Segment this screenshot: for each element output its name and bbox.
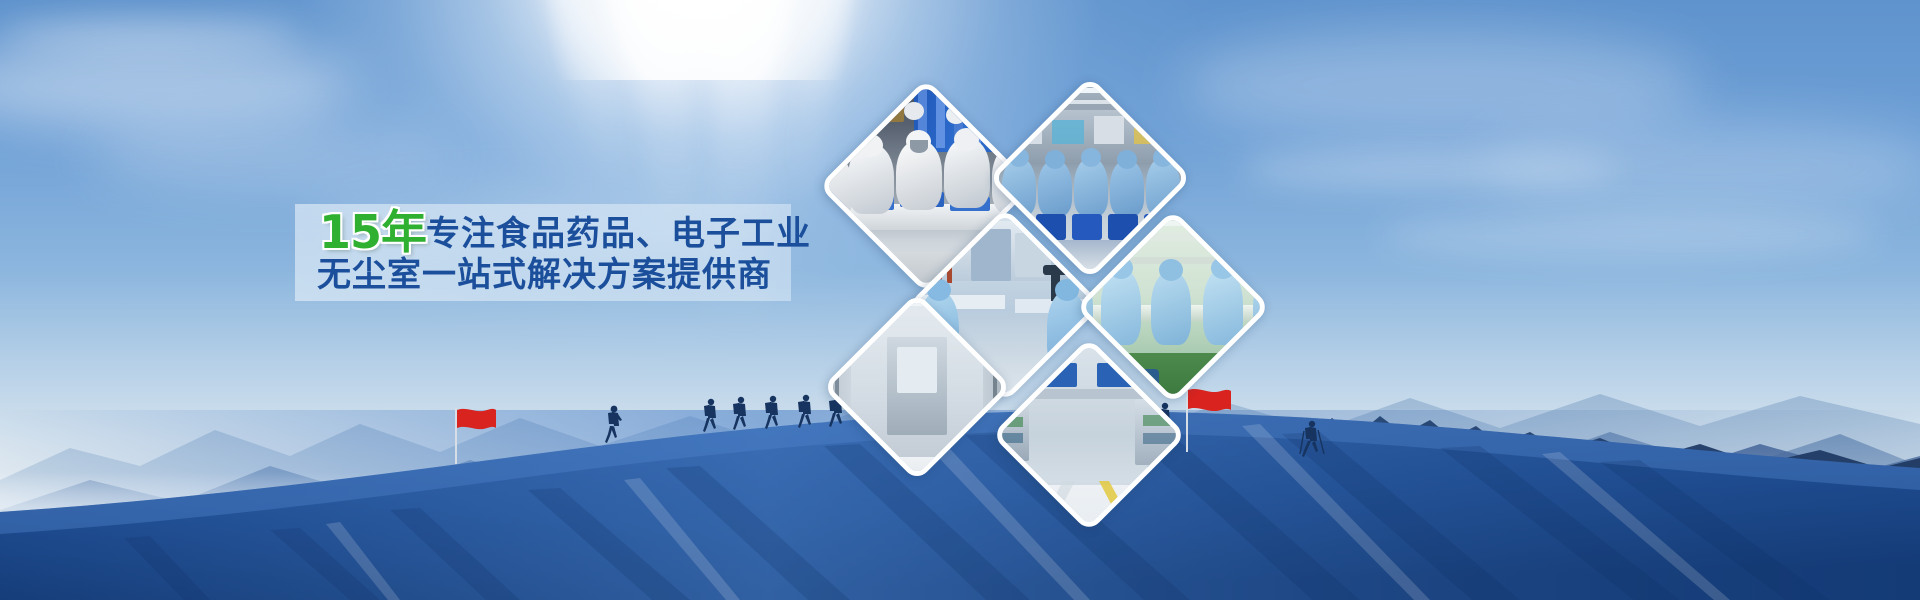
headline-line-1-rest: 专注食品药品、电子工业 — [426, 214, 811, 254]
headline-panel: 15年专注食品药品、电子工业 无尘室一站式解决方案提供商 — [295, 204, 791, 301]
cleanroom-photo-diamond-collage — [828, 88, 1288, 468]
headline-line-2: 无尘室一站式解决方案提供商 — [295, 251, 813, 299]
headline-line-1: 15年专注食品药品、电子工业 — [295, 208, 815, 256]
hero-banner: 15年专注食品药品、电子工业 无尘室一站式解决方案提供商 — [0, 0, 1920, 600]
